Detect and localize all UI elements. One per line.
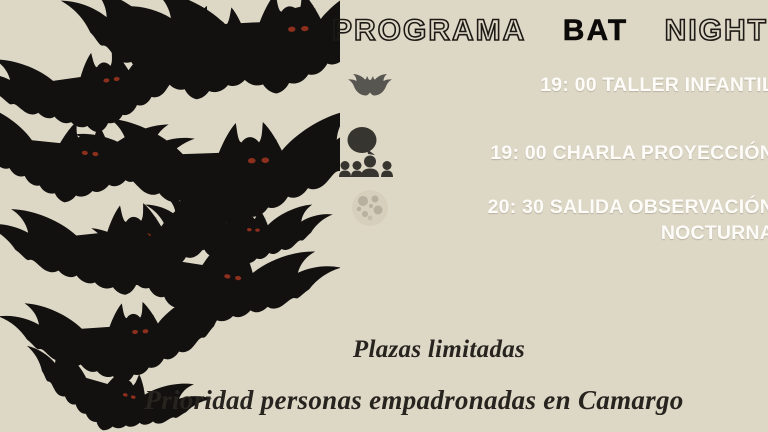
title-word-night: NIGHT: [665, 16, 768, 46]
talk-audience-icon: [332, 120, 408, 182]
note-plazas-limitadas: Plazas limitadas: [0, 336, 768, 364]
bat-top-right: [131, 0, 340, 116]
poster-title: PROGRAMA BAT NIGHT: [332, 12, 768, 50]
bat-mid-center: [86, 100, 340, 247]
bat-icon: [332, 58, 408, 120]
program-item-label: 20: 30 SALIDA OBSERVACIÓN NOCTURNA: [408, 182, 768, 247]
bat-silhouette-group: [0, 0, 340, 432]
bat-top-center: [65, 0, 340, 126]
program-schedule-list: 19: 00 TALLER INFANTIL: [332, 58, 768, 260]
program-item-charla-proyeccion: 19: 00 CHARLA PROYECCIÓN: [332, 120, 768, 182]
moon-glyph: [350, 188, 390, 228]
program-item-label: 19: 00 TALLER INFANTIL: [408, 58, 768, 98]
program-item-taller-infantil: 19: 00 TALLER INFANTIL: [332, 58, 768, 120]
title-word-bat: BAT: [563, 16, 628, 46]
program-item-salida-observacion: 20: 30 SALIDA OBSERVACIÓN NOCTURNA: [332, 182, 768, 260]
bat-mid-small: [149, 192, 340, 284]
note-prioridad-empadronados: Prioridad personas empadronadas en Camar…: [0, 385, 768, 416]
program-item-label: 19: 00 CHARLA PROYECCIÓN: [408, 120, 768, 166]
bat-mid-left: [0, 97, 227, 230]
title-word-programa: PROGRAMA: [332, 16, 526, 46]
moon-icon: [332, 182, 408, 260]
bat-top-left: [0, 20, 250, 159]
bat-lower-left: [0, 175, 295, 322]
bat-night-poster: PROGRAMA BAT NIGHT 19: 00 TALLER INFANTI…: [0, 0, 768, 432]
